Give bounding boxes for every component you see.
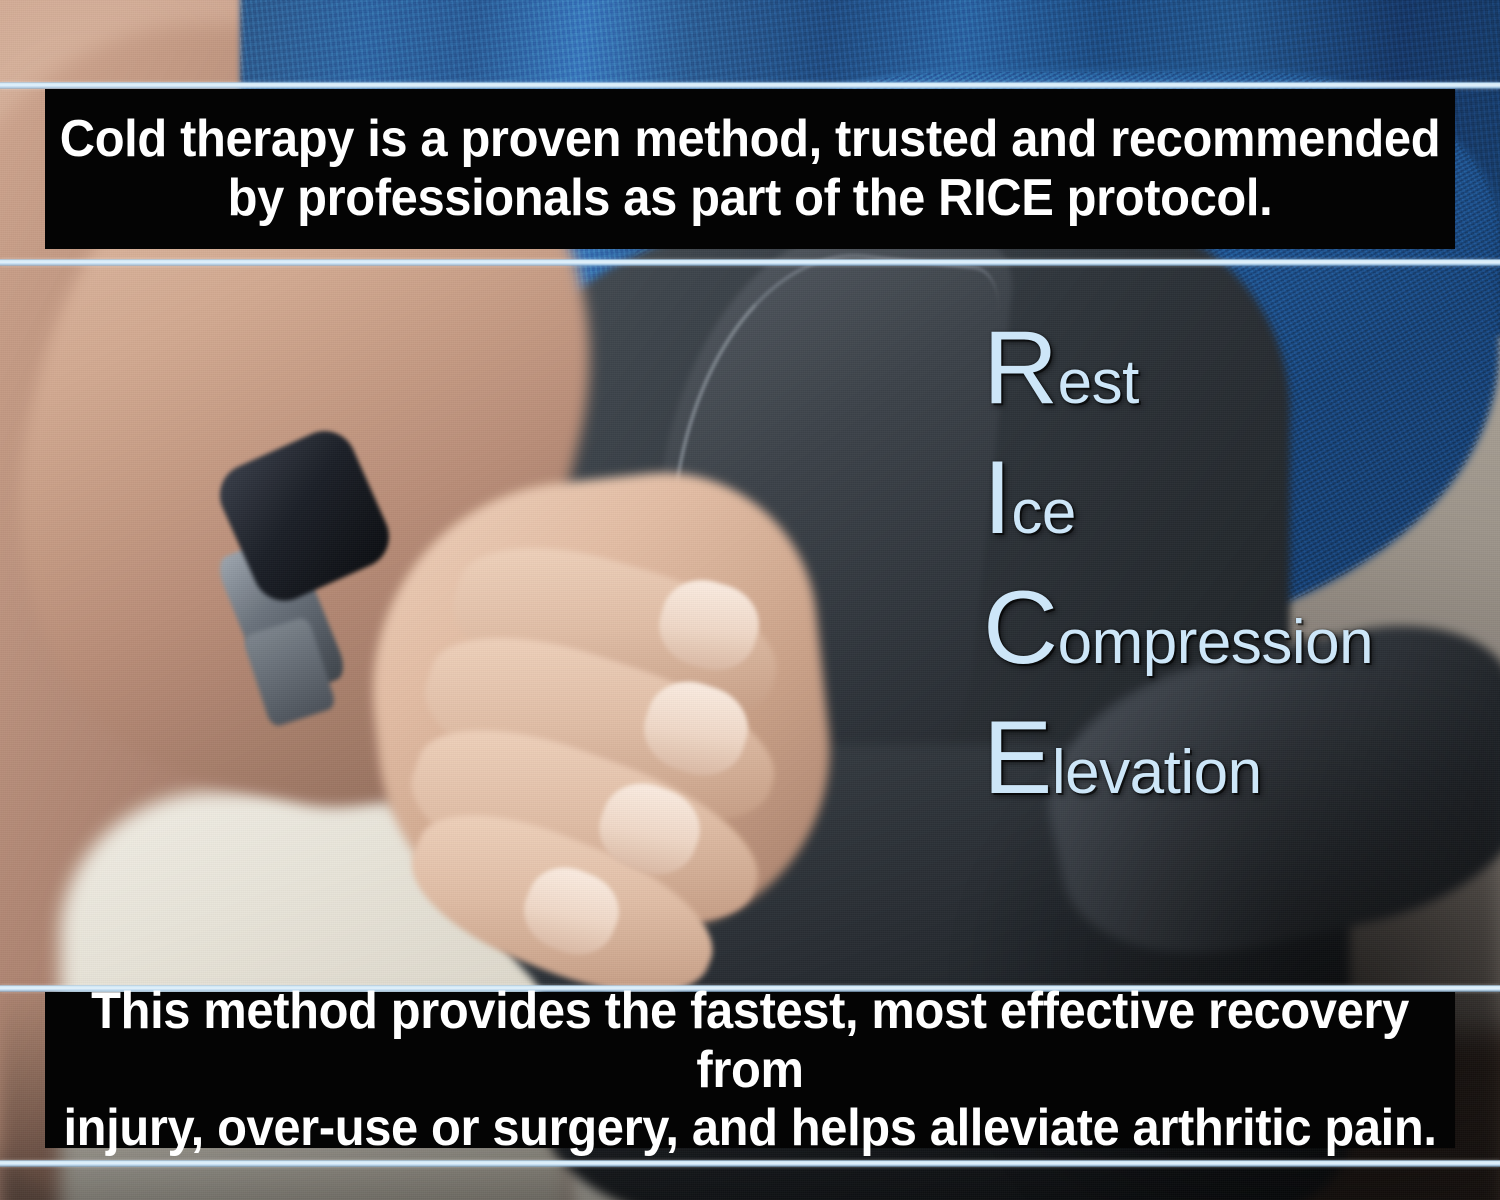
rice-word-compression: ompression <box>1058 608 1373 677</box>
bottom-caption-line-2: injury, over-use or surgery, and helps a… <box>56 1099 1443 1158</box>
rice-item-elevation: Elevation <box>983 708 1483 810</box>
bottom-caption-banner: This method provides the fastest, most e… <box>45 992 1455 1148</box>
product-infographic: Rest Ice Compression Elevation Cold ther… <box>0 0 1500 1200</box>
top-caption-banner: Cold therapy is a proven method, trusted… <box>45 89 1455 249</box>
rice-item-rest: Rest <box>983 318 1483 420</box>
rice-initial-r: R <box>983 310 1058 426</box>
top-caption-line-1: Cold therapy is a proven method, trusted… <box>56 110 1443 169</box>
rice-acronym-block: Rest Ice Compression Elevation <box>983 318 1483 810</box>
divider-line-bottom <box>0 1160 1500 1167</box>
rice-initial-i: I <box>983 440 1011 556</box>
rice-item-ice: Ice <box>983 448 1483 550</box>
rice-word-rest: est <box>1058 348 1139 417</box>
top-caption-line-2: by professionals as part of the RICE pro… <box>56 169 1443 228</box>
bottom-caption-line-1: This method provides the fastest, most e… <box>56 982 1443 1100</box>
rice-initial-e: E <box>983 700 1052 816</box>
rice-word-elevation: levation <box>1052 738 1262 807</box>
rice-initial-c: C <box>983 570 1058 686</box>
rice-item-compression: Compression <box>983 578 1483 680</box>
rice-word-ice: ce <box>1011 478 1075 547</box>
divider-line-upper-mid <box>0 259 1500 266</box>
divider-line-top <box>0 82 1500 89</box>
